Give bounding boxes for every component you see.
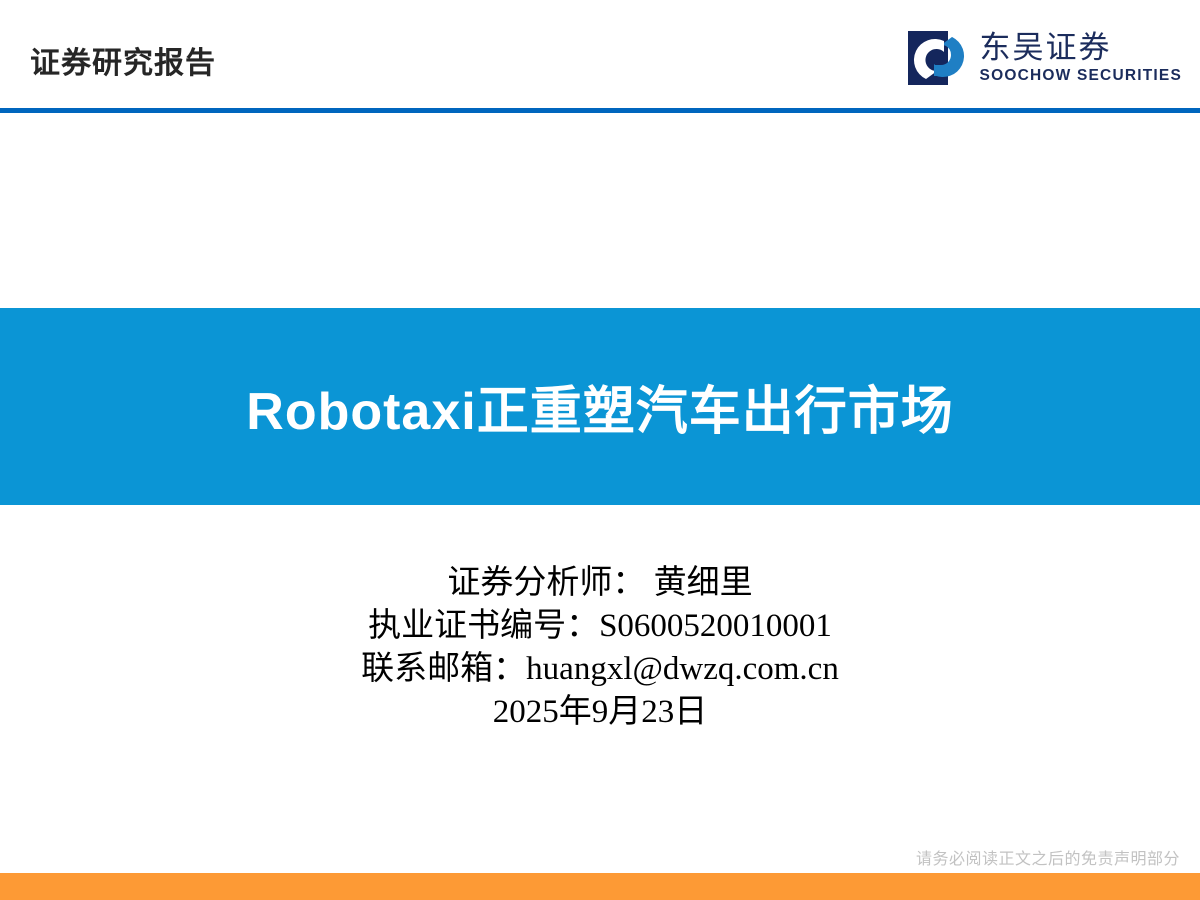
report-type-label: 证券研究报告 (30, 38, 216, 82)
presentation-slide: 证券研究报告 东吴证券 SOOCHOW SECURITIES Robotaxi正… (0, 0, 1200, 900)
slide-header: 证券研究报告 东吴证券 SOOCHOW SECURITIES (0, 0, 1200, 108)
disclaimer-note: 请务必阅读正文之后的免责声明部分 (916, 845, 1180, 869)
company-name-cn: 东吴证券 (980, 32, 1182, 63)
header-divider (0, 108, 1200, 113)
slide-title: Robotaxi正重塑汽车出行市场 (246, 369, 953, 444)
company-logo-text: 东吴证券 SOOCHOW SECURITIES (980, 32, 1182, 84)
company-name-en: SOOCHOW SECURITIES (980, 68, 1182, 84)
analyst-email-line: 联系邮箱：huangxl@dwzq.com.cn (0, 648, 1200, 691)
soochow-securities-logo-mark-icon (908, 29, 970, 87)
analyst-name-line: 证券分析师： 黄细里 (0, 562, 1200, 605)
analyst-info-block: 证券分析师： 黄细里 执业证书编号：S0600520010001 联系邮箱：hu… (0, 562, 1200, 734)
footer-accent-bar (0, 873, 1200, 900)
company-logo: 东吴证券 SOOCHOW SECURITIES (908, 26, 1182, 90)
title-banner: Robotaxi正重塑汽车出行市场 (0, 308, 1200, 505)
analyst-license-line: 执业证书编号：S0600520010001 (0, 605, 1200, 648)
report-date-line: 2025年9月23日 (0, 691, 1200, 734)
